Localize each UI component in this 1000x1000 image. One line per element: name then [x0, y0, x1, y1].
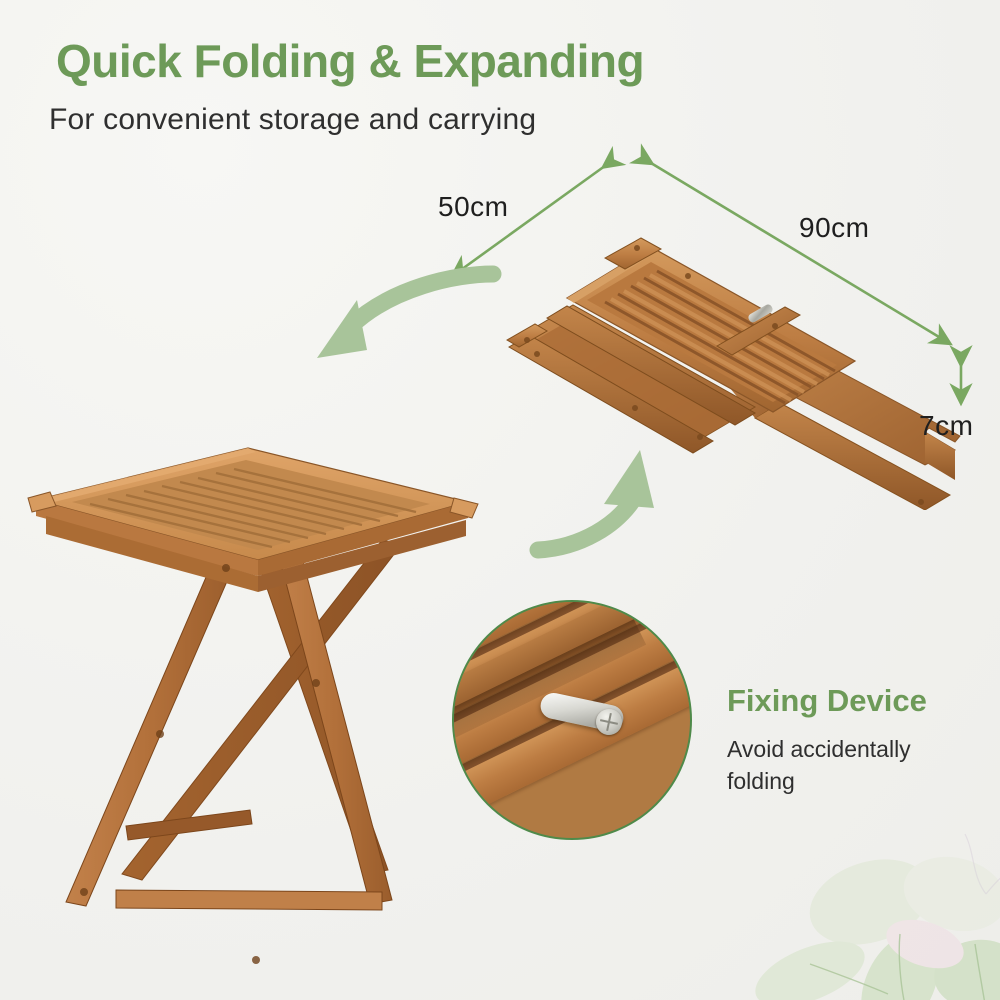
curved-arrow-fold-icon — [528, 432, 708, 562]
feature-title: Fixing Device — [727, 683, 927, 719]
dimension-label-50cm: 50cm — [438, 191, 508, 223]
feature-description: Avoid accidentally folding — [727, 733, 977, 797]
product-infographic: Quick Folding & Expanding For convenient… — [0, 0, 1000, 1000]
dimension-arrows — [0, 0, 1000, 1000]
curved-arrow-unfold-icon — [295, 258, 505, 388]
dimension-arrow-90cm — [646, 160, 944, 340]
dimension-label-7cm: 7cm — [919, 410, 973, 442]
dimension-label-90cm: 90cm — [799, 212, 869, 244]
